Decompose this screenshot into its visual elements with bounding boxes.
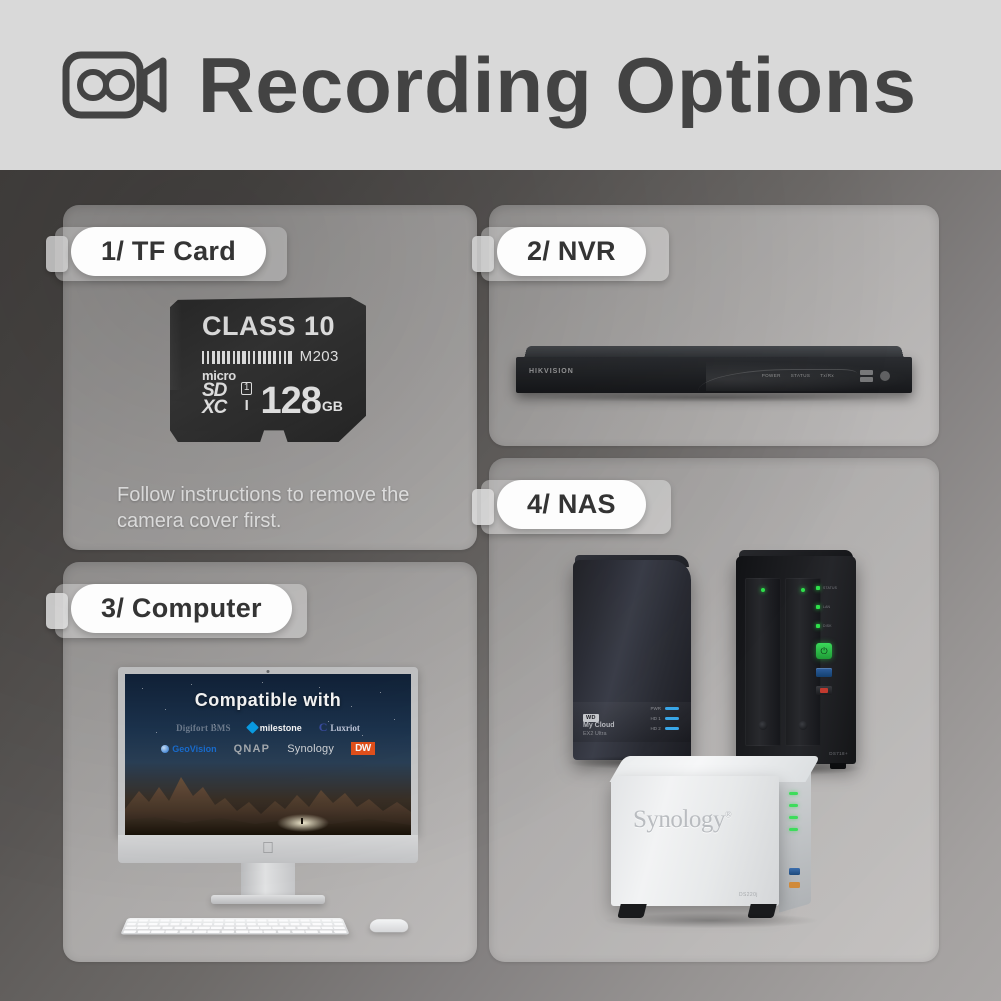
synology-white-nas: Synology® DS220j (611, 756, 823, 924)
ds-white-model-label: DS220j (739, 892, 758, 898)
logo-dw: DW (351, 742, 375, 755)
wd-led-label: HD 1 (651, 716, 661, 721)
page-title: Recording Options (198, 46, 917, 124)
sd-format-logo: micro SD XC (202, 370, 236, 417)
panel-nvr: 2/ NVR HIKVISION POWER STATUS Tx/Rx (489, 205, 939, 446)
label-tab (472, 489, 494, 525)
video-camera-icon (60, 46, 172, 124)
label-tab (472, 236, 494, 272)
led-indicator (789, 804, 798, 807)
sd-capacity-number: 128 (260, 385, 320, 417)
logo-synology: Synology (287, 743, 334, 755)
sd-speed-class-icon: 1 I (241, 382, 253, 413)
drive-bay (745, 578, 781, 746)
imac-display: Compatible with Digifort BMS milestone L… (125, 674, 411, 835)
label-text-tf-card: 1/ TF Card (101, 236, 236, 267)
sd-format-xc: XC (202, 399, 236, 416)
wd-led-label: HD 2 (651, 726, 661, 731)
label-tf-card: 1/ TF Card (55, 223, 266, 279)
nvr-ports (860, 370, 890, 382)
panel-tf-card: 1/ TF Card CLASS 10 M203 micro SD (63, 205, 477, 550)
nvr-brand-label: HIKVISION (529, 368, 574, 375)
wd-led-row: PWR (651, 706, 680, 711)
sd-capacity-unit: GB (322, 398, 343, 414)
label-pill-nvr: 2/ NVR (497, 227, 646, 276)
sd-class-label: CLASS 10 (202, 313, 354, 340)
logo-qnap: QNAP (234, 743, 271, 755)
label-text-nas: 4/ NAS (527, 489, 616, 520)
label-tab (46, 593, 68, 629)
tf-card-note: Follow instructions to remove the camera… (117, 483, 447, 534)
magic-mouse (369, 919, 408, 932)
led-indicator (665, 707, 679, 710)
label-text-computer: 3/ Computer (101, 593, 262, 624)
logo-luxriot: Luxriot (319, 720, 360, 735)
wd-led-panel: PWR HD 1 HD 2 (651, 706, 680, 736)
ds-indicator-label: LAN (823, 605, 830, 609)
imac-computer: Compatible with Digifort BMS milestone L… (118, 667, 418, 927)
imac-chin:  (118, 835, 418, 863)
logo-digifort-bms: Digifort BMS (176, 723, 231, 733)
logo-milestone: milestone (248, 723, 302, 733)
ds-indicator: DISK (816, 624, 846, 628)
options-board: 1/ TF Card CLASS 10 M203 micro SD (0, 170, 1001, 1001)
compatible-logo-grid: Digifort BMS milestone Luxriot GeoVision… (125, 720, 411, 755)
wd-product-name: My Cloud EX2 Ultra (583, 722, 615, 738)
label-nvr: 2/ NVR (481, 223, 646, 279)
led-indicator (816, 586, 820, 590)
logo-row-2: GeoVision QNAP Synology DW (125, 742, 411, 755)
ds-indicator-label: STATUS (823, 586, 837, 590)
copy-button-icon[interactable] (816, 686, 832, 695)
nvr-usb-ports (860, 370, 873, 382)
nvr-led-labels: POWER STATUS Tx/Rx (762, 373, 834, 378)
logo-geovision: GeoVision (161, 744, 216, 754)
wd-name-text: My Cloud (583, 722, 615, 729)
sd-barcode-icon (202, 351, 292, 364)
power-button-icon[interactable]: ⏻ (816, 643, 832, 659)
nvr-device: HIKVISION POWER STATUS Tx/Rx (516, 345, 912, 397)
nvr-power-button (880, 371, 890, 381)
trademark-icon: ® (725, 810, 731, 820)
sd-card-printing: CLASS 10 M203 micro SD XC 1 (170, 297, 366, 442)
nvr-led-power: POWER (762, 373, 781, 378)
label-tab (46, 236, 68, 272)
led-indicator (789, 792, 798, 795)
label-pill-tf-card: 1/ TF Card (71, 227, 266, 276)
keyboard-row (123, 930, 347, 933)
label-text-nvr: 2/ NVR (527, 236, 616, 267)
led-indicator (816, 605, 820, 609)
ds-drive-bays (745, 578, 821, 746)
display-headline: Compatible with (125, 690, 411, 711)
led-indicator (816, 624, 820, 628)
wd-led-row: HD 2 (651, 726, 680, 731)
label-pill-computer: 3/ Computer (71, 584, 292, 633)
webcam-icon (267, 670, 270, 673)
sd-uhs-class: 1 (241, 382, 253, 395)
page-header: Recording Options (0, 0, 1001, 170)
label-nas: 4/ NAS (481, 476, 646, 532)
ds-black-model-label: DS718+ (829, 751, 848, 756)
usb-port-icon (789, 868, 800, 875)
ds-white-leds (789, 792, 798, 840)
wd-led-row: HD 1 (651, 716, 680, 721)
sd-model-label: M203 (300, 349, 339, 364)
usb-port-icon (860, 377, 873, 382)
ds-indicator-label: DISK (823, 624, 832, 628)
imac-stand-foot (211, 895, 325, 904)
nvr-led-txrx: Tx/Rx (820, 373, 834, 378)
wd-my-cloud-device: WD My Cloud EX2 Ultra PWR HD 1 HD 2 (573, 560, 691, 760)
ds-indicator-column: STATUS LAN DISK ⏻ (816, 586, 846, 695)
ds-white-shadow (605, 913, 817, 928)
synology-brand-label: Synology® (633, 806, 731, 834)
imac-stand-neck (241, 863, 295, 899)
ds-white-body (611, 776, 779, 906)
nvr-shadow (528, 393, 900, 402)
magic-keyboard (120, 918, 349, 934)
led-indicator (665, 717, 679, 720)
keyboard-row (128, 919, 342, 921)
sd-uhs-roman: I (245, 398, 249, 413)
nvr-led-status: STATUS (791, 373, 810, 378)
ds-indicator: STATUS (816, 586, 846, 590)
imac-screen-bezel: Compatible with Digifort BMS milestone L… (118, 667, 418, 835)
logo-row-1: Digifort BMS milestone Luxriot (125, 720, 411, 735)
label-pill-nas: 4/ NAS (497, 480, 646, 529)
copy-button-icon[interactable] (789, 882, 800, 888)
keyboard-row (125, 927, 346, 930)
ds-indicator: LAN (816, 605, 846, 609)
led-indicator (789, 828, 798, 831)
wd-model-text: EX2 Ultra (583, 731, 615, 738)
synology-black-nas: STATUS LAN DISK ⏻ DS718+ (736, 556, 856, 764)
usb-port-icon (860, 370, 873, 375)
panel-computer: 3/ Computer Compatible with (63, 562, 477, 962)
wd-led-label: PWR (651, 706, 662, 711)
nvr-front-panel: HIKVISION POWER STATUS Tx/Rx (516, 357, 912, 393)
keyboard-row (126, 923, 344, 925)
label-computer: 3/ Computer (55, 580, 292, 636)
synology-brand-text: Synology (633, 806, 725, 833)
desert-wallpaper-image (125, 757, 411, 835)
microsd-card: CLASS 10 M203 micro SD XC 1 (170, 297, 366, 442)
sd-capacity: 128 GB (260, 385, 342, 417)
led-indicator (665, 727, 679, 730)
panel-nas: 4/ NAS WD My Cloud EX2 Ultra PWR HD 1 HD… (489, 458, 939, 962)
led-indicator (789, 816, 798, 819)
apple-logo-icon:  (262, 841, 274, 857)
usb-port-icon (816, 668, 832, 677)
wd-brand-label: WD (583, 714, 599, 722)
